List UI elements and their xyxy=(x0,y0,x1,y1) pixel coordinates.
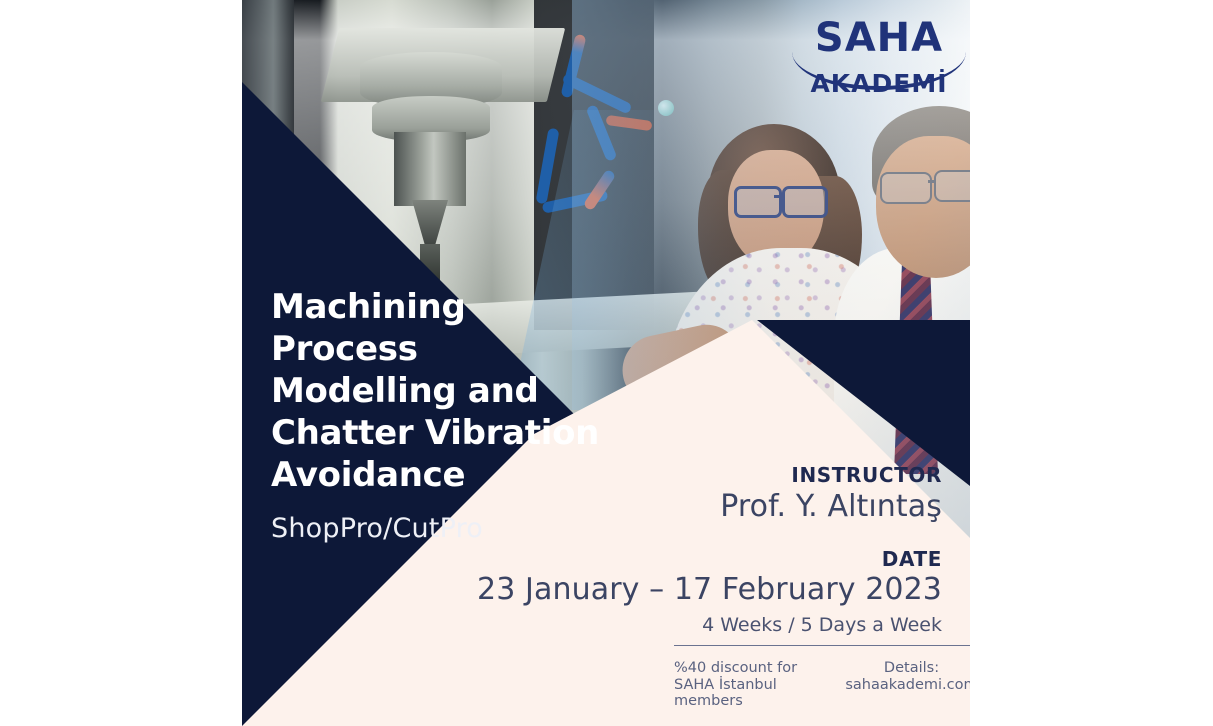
course-subtitle: ShopPro/CutPro xyxy=(271,513,483,544)
title-line-2: Process xyxy=(271,328,671,370)
discount-line-1: %40 discount for xyxy=(674,660,824,677)
discount-column: %40 discount for SAHA İstanbul members xyxy=(674,660,824,710)
footer-info: %40 discount for SAHA İstanbul members D… xyxy=(674,660,970,710)
poster-text-layer: Machining Process Modelling and Chatter … xyxy=(242,0,970,726)
instructor-label: INSTRUCTOR xyxy=(472,464,942,487)
title-line-1: Machining xyxy=(271,286,671,328)
discount-line-2: SAHA İstanbul xyxy=(674,677,824,694)
course-poster: SAHA AKADEMİ Machining Process Modelling… xyxy=(242,0,970,726)
discount-line-3: members xyxy=(674,693,824,710)
title-line-3: Modelling and xyxy=(271,370,671,412)
details-column: Details: sahaakademi.com xyxy=(827,660,971,693)
details-block: INSTRUCTOR Prof. Y. Altıntaş DATE 23 Jan… xyxy=(472,464,942,637)
date-range: 23 January – 17 February 2023 xyxy=(472,571,942,609)
date-label: DATE xyxy=(472,548,942,571)
footer-divider xyxy=(674,645,970,646)
screenshot-canvas: SAHA AKADEMİ Machining Process Modelling… xyxy=(0,0,1213,726)
date-duration: 4 Weeks / 5 Days a Week xyxy=(472,613,942,638)
details-website-link[interactable]: sahaakademi.com xyxy=(827,677,971,694)
details-label: Details: xyxy=(827,660,971,677)
instructor-name: Prof. Y. Altıntaş xyxy=(472,487,942,526)
title-line-4: Chatter Vibration xyxy=(271,412,671,454)
